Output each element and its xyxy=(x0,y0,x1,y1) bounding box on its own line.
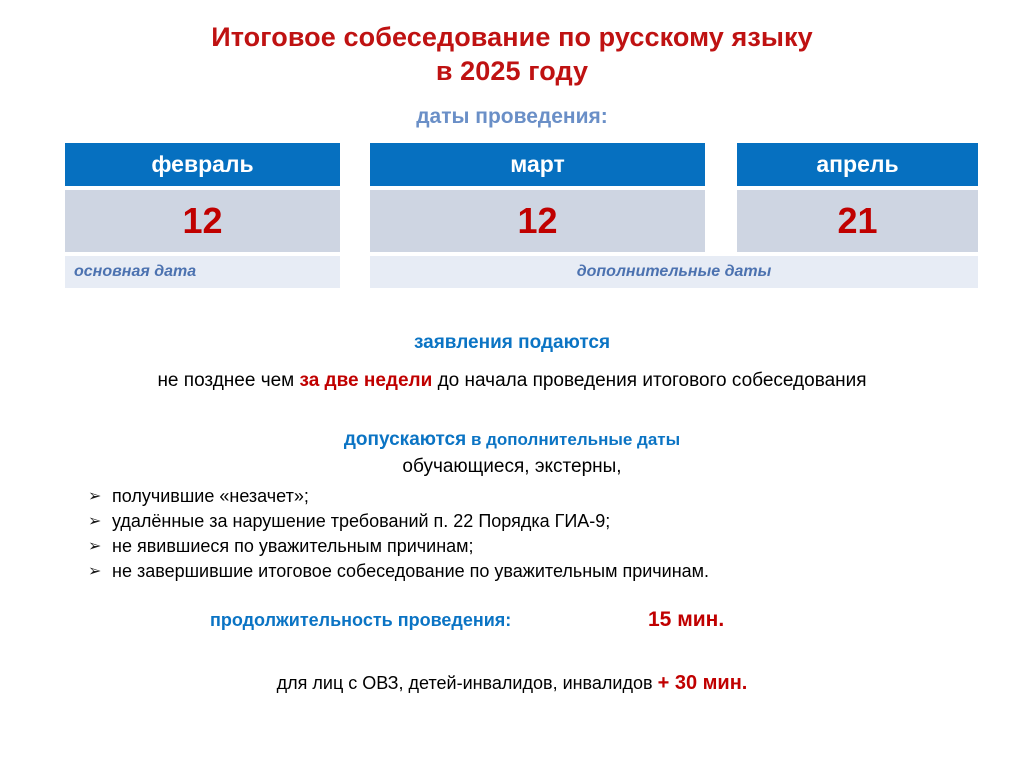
arrow-bullet-icon: ➢ xyxy=(88,509,101,534)
page-title-line-1: Итоговое собеседование по русскому языку xyxy=(0,20,1024,54)
date-column-march: март 12 xyxy=(370,143,705,252)
list-item: ➢ не явившиеся по уважительным причинам; xyxy=(0,534,1024,559)
list-item: ➢ получившие «незачет»; xyxy=(0,484,1024,509)
admission-heading-strong: допускаются xyxy=(344,429,466,450)
month-header-march: март xyxy=(370,143,705,186)
list-item-label: удалённые за нарушение требований п. 22 … xyxy=(112,511,610,531)
applications-accent: за две недели xyxy=(300,370,433,391)
admission-list: ➢ получившие «незачет»; ➢ удалённые за н… xyxy=(0,484,1024,584)
admission-heading-rest: в дополнительные даты xyxy=(466,430,680,449)
date-value-march: 12 xyxy=(370,190,705,252)
date-column-february: февраль 12 xyxy=(65,143,340,252)
applications-text-after: до начала проведения итогового собеседов… xyxy=(432,370,866,391)
arrow-bullet-icon: ➢ xyxy=(88,559,101,584)
admission-subject: обучающиеся, экстерны, xyxy=(0,456,1024,478)
ovz-duration-bonus: + 30 мин. xyxy=(658,672,748,694)
list-item: ➢ не завершившие итоговое собеседование … xyxy=(0,559,1024,584)
ovz-duration-text: для лиц с ОВЗ, детей-инвалидов, инвалидо… xyxy=(277,673,658,693)
applications-heading: заявления подаются xyxy=(0,332,1024,354)
dates-caption: даты проведения: xyxy=(0,105,1024,129)
duration-label: продолжительность проведения: xyxy=(210,610,511,631)
date-value-february: 12 xyxy=(65,190,340,252)
list-item: ➢ удалённые за нарушение требований п. 2… xyxy=(0,509,1024,534)
duration-value: 15 мин. xyxy=(648,608,724,632)
date-value-april: 21 xyxy=(737,190,978,252)
list-item-label: получившие «незачет»; xyxy=(112,486,309,506)
applications-text-before: не позднее чем xyxy=(157,370,299,391)
month-header-april: апрель xyxy=(737,143,978,186)
arrow-bullet-icon: ➢ xyxy=(88,534,101,559)
page-title-line-2: в 2025 году xyxy=(0,54,1024,88)
dates-table: февраль 12 март 12 апрель 21 основная да… xyxy=(0,143,1024,288)
list-item-label: не завершившие итоговое собеседование по… xyxy=(112,561,709,581)
admission-heading: допускаются в дополнительные даты xyxy=(0,429,1024,451)
ovz-duration-row: для лиц с ОВЗ, детей-инвалидов, инвалидо… xyxy=(0,672,1024,695)
applications-deadline-line: не позднее чем за две недели до начала п… xyxy=(0,370,1024,392)
list-item-label: не явившиеся по уважительным причинам; xyxy=(112,536,474,556)
note-main-date: основная дата xyxy=(65,256,340,288)
note-additional-dates: дополнительные даты xyxy=(370,256,978,288)
page-title: Итоговое собеседование по русскому языку… xyxy=(0,0,1024,88)
date-column-april: апрель 21 xyxy=(737,143,978,252)
arrow-bullet-icon: ➢ xyxy=(88,484,101,509)
month-header-february: февраль xyxy=(65,143,340,186)
duration-row: продолжительность проведения: 15 мин. xyxy=(0,610,1024,638)
